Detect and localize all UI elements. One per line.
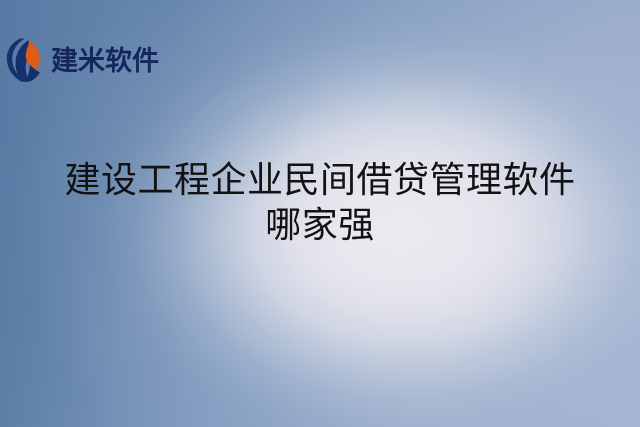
page-title-line-2: 哪家强 bbox=[0, 203, 640, 248]
jianmi-leaf-mark-icon bbox=[6, 37, 46, 83]
page-title: 建设工程企业民间借贷管理软件 哪家强 bbox=[0, 158, 640, 248]
promo-banner: 建米软件 建设工程企业民间借贷管理软件 哪家强 bbox=[0, 0, 640, 427]
brand-logo[interactable]: 建米软件 bbox=[6, 36, 159, 84]
page-title-line-1: 建设工程企业民间借贷管理软件 bbox=[0, 158, 640, 203]
brand-name-text: 建米软件 bbox=[51, 48, 159, 75]
